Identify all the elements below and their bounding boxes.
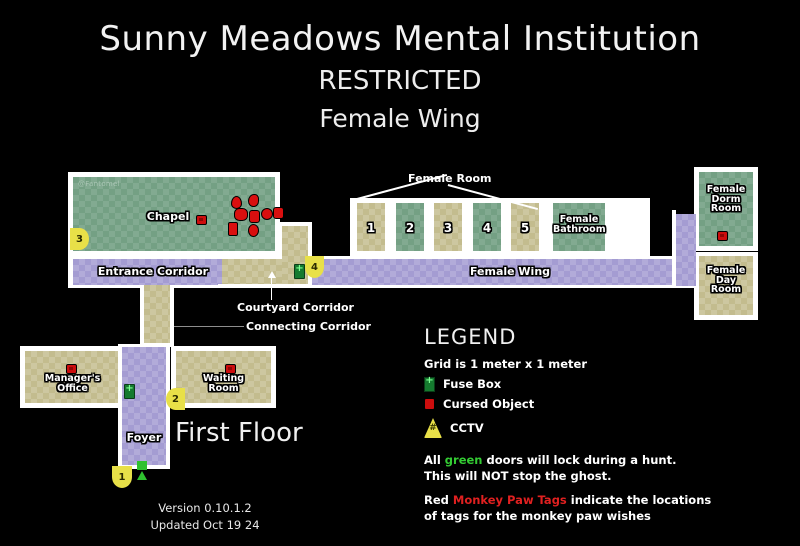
cctv-marker-3[interactable]: 3 (70, 228, 89, 250)
note-green-doors-line2: This will NOT stop the ghost. (424, 469, 724, 485)
cursed-object-icon (273, 207, 284, 219)
annotation-courtyard-corridor: Courtyard Corridor (237, 301, 354, 314)
arrow-up-icon (268, 271, 276, 278)
courtyard-corridor-wall-2 (218, 284, 314, 288)
room-waiting-room[interactable] (176, 351, 271, 403)
cursed-object-icon (424, 398, 435, 410)
cctv-marker-4[interactable]: 4 (305, 256, 324, 278)
legend-label-cctv: CCTV (450, 421, 484, 435)
fuse-box-icon[interactable] (124, 384, 135, 399)
cctv-icon: # (424, 418, 442, 438)
cctv-marker-1[interactable]: 1 (112, 466, 132, 488)
legend-grid-note: Grid is 1 meter x 1 meter (424, 357, 724, 371)
room-foyer[interactable] (122, 347, 166, 465)
cursed-object-icon (261, 208, 273, 220)
room-female-1[interactable] (357, 203, 385, 251)
entrance-door-marker[interactable] (137, 461, 147, 470)
cursed-object-icon (66, 364, 77, 374)
room-female-4[interactable] (473, 203, 501, 251)
door-white (101, 254, 121, 259)
map-watermark: @Fantomel (78, 180, 120, 188)
leader-line-courtyard (271, 278, 272, 300)
annotation-female-room: Female Room (408, 172, 492, 185)
fuse-box-icon (424, 377, 435, 392)
note-paw-suffix: indicate the locations (567, 493, 711, 507)
room-female-5[interactable] (511, 203, 539, 251)
legend-item-cursed-object: Cursed Object (424, 397, 724, 411)
cctv-marker-2[interactable]: 2 (166, 388, 185, 410)
note-green-doors: All green doors will lock during a hunt. (424, 453, 724, 469)
version-info: Version 0.10.1.2 Updated Oct 19 24 (100, 500, 310, 533)
cursed-object-icon (228, 222, 238, 236)
note-paw-prefix: Red (424, 493, 453, 507)
bracket-line-left (357, 174, 447, 200)
cursed-object-icon (225, 364, 236, 374)
room-female-3[interactable] (434, 203, 462, 251)
version-number: Version 0.10.1.2 (100, 500, 310, 517)
cctv-label: 1 (119, 472, 126, 483)
updated-date: Updated Oct 19 24 (100, 517, 310, 534)
legend-notes: All green doors will lock during a hunt.… (424, 453, 724, 524)
cctv-label: 3 (76, 234, 83, 245)
legend-title: LEGEND (424, 327, 724, 348)
spawn-arrow-icon (137, 471, 147, 480)
legend-item-cctv: # CCTV (424, 417, 724, 439)
legend: LEGEND Grid is 1 meter x 1 meter Fuse Bo… (424, 327, 724, 524)
note-green-keyword: green (445, 453, 483, 467)
cursed-object-icon (234, 208, 248, 221)
cursed-object-icon (196, 215, 207, 225)
room-female-wing-right[interactable] (676, 214, 696, 286)
room-female-bathroom[interactable] (553, 203, 605, 251)
cctv-label: 2 (172, 394, 179, 405)
floor-label: First Floor (175, 418, 303, 448)
note-green-prefix: All (424, 453, 445, 467)
legend-item-fuse-box: Fuse Box (424, 377, 724, 391)
room-female-wing[interactable] (312, 259, 694, 285)
room-female-day[interactable] (699, 256, 753, 315)
female-wing-right-wall (672, 210, 676, 288)
room-female-2[interactable] (396, 203, 424, 251)
fuse-box-icon[interactable] (294, 264, 305, 279)
annotation-connecting-corridor: Connecting Corridor (246, 320, 371, 333)
cursed-object-icon (248, 194, 259, 207)
cursed-object-icon (249, 210, 260, 223)
legend-label-cursed-object: Cursed Object (443, 397, 534, 411)
note-monkey-paw: Red Monkey Paw Tags indicate the locatio… (424, 493, 724, 509)
room-managers-office[interactable] (25, 351, 120, 403)
legend-label-fuse-box: Fuse Box (443, 377, 501, 391)
note-paw-keyword: Monkey Paw Tags (453, 493, 567, 507)
room-connecting-corridor[interactable] (144, 285, 170, 343)
note-monkey-paw-line2: of tags for the monkey paw wishes (424, 509, 724, 525)
cursed-object-icon (248, 224, 259, 237)
cursed-object-icon (717, 231, 728, 241)
note-green-suffix: doors will lock during a hunt. (483, 453, 677, 467)
cctv-label: 4 (311, 262, 318, 273)
